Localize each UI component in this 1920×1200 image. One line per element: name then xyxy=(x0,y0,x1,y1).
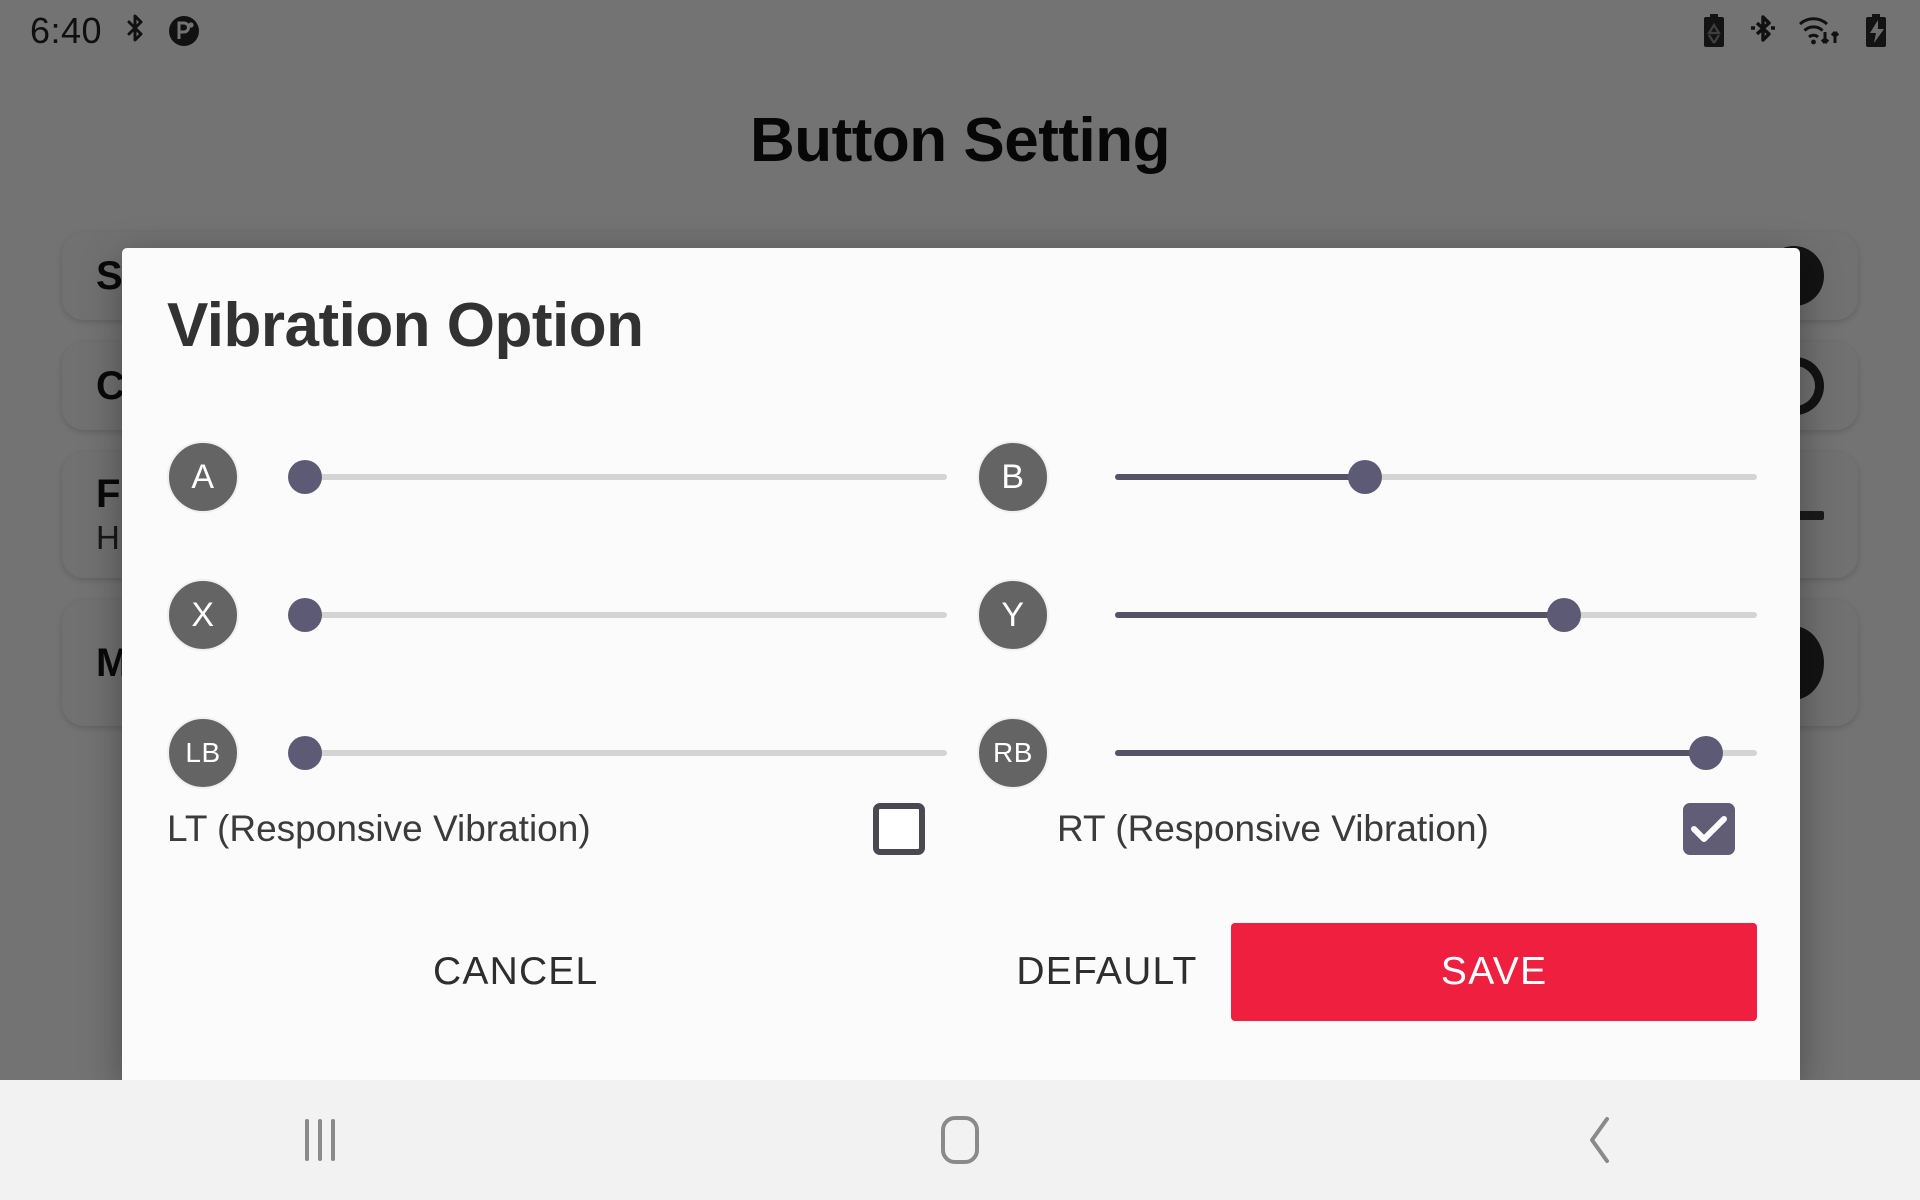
slider-rb[interactable] xyxy=(1115,723,1757,783)
slider-thumb[interactable] xyxy=(288,598,322,632)
slider-fill xyxy=(1115,750,1706,756)
responsive-vibration-row: LT (Responsive Vibration) RT (Responsive… xyxy=(167,803,1757,855)
dialog-title: Vibration Option xyxy=(167,290,644,361)
back-icon xyxy=(1585,1115,1615,1165)
screen: 6:40 xyxy=(0,0,1920,1200)
slider-row-rb: RB xyxy=(977,684,1757,822)
slider-row-lb: LB xyxy=(167,684,947,822)
navigation-bar xyxy=(0,1080,1920,1200)
rt-checkbox-label: RT (Responsive Vibration) xyxy=(1057,808,1489,850)
home-button[interactable] xyxy=(640,1080,1280,1200)
button-badge-lb: LB xyxy=(167,717,239,789)
slider-row-y: Y xyxy=(977,546,1757,684)
button-badge-x: X xyxy=(167,579,239,651)
recents-icon xyxy=(305,1119,335,1161)
slider-thumb[interactable] xyxy=(1547,598,1581,632)
slider-grid: A B X xyxy=(167,408,1757,822)
lt-checkbox-label: LT (Responsive Vibration) xyxy=(167,808,591,850)
slider-track xyxy=(305,750,947,756)
recents-button[interactable] xyxy=(0,1080,640,1200)
lt-checkbox[interactable] xyxy=(873,803,925,855)
button-badge-b: B xyxy=(977,441,1049,513)
slider-thumb[interactable] xyxy=(288,460,322,494)
slider-row-x: X xyxy=(167,546,947,684)
rt-checkbox[interactable] xyxy=(1683,803,1735,855)
slider-thumb[interactable] xyxy=(1348,460,1382,494)
slider-row-b: B xyxy=(977,408,1757,546)
slider-y[interactable] xyxy=(1115,585,1757,645)
slider-track xyxy=(305,612,947,618)
rt-checkbox-cell[interactable]: RT (Responsive Vibration) xyxy=(977,803,1757,855)
slider-thumb[interactable] xyxy=(1689,736,1723,770)
check-icon xyxy=(1691,815,1727,843)
button-badge-rb: RB xyxy=(977,717,1049,789)
slider-fill xyxy=(1115,612,1564,618)
slider-x[interactable] xyxy=(305,585,947,645)
slider-fill xyxy=(1115,474,1365,480)
slider-track xyxy=(305,474,947,480)
default-button[interactable]: DEFAULT xyxy=(982,928,1231,1016)
cancel-button[interactable]: CANCEL xyxy=(399,928,632,1016)
button-badge-a: A xyxy=(167,441,239,513)
dialog-action-row: CANCEL DEFAULT SAVE xyxy=(167,923,1757,1021)
slider-row-a: A xyxy=(167,408,947,546)
button-badge-y: Y xyxy=(977,579,1049,651)
slider-b[interactable] xyxy=(1115,447,1757,507)
save-button[interactable]: SAVE xyxy=(1231,923,1757,1021)
back-button[interactable] xyxy=(1280,1080,1920,1200)
slider-thumb[interactable] xyxy=(288,736,322,770)
home-icon xyxy=(941,1116,979,1164)
slider-a[interactable] xyxy=(305,447,947,507)
vibration-option-dialog: Vibration Option A B X xyxy=(122,248,1800,1080)
lt-checkbox-cell[interactable]: LT (Responsive Vibration) xyxy=(167,803,947,855)
slider-lb[interactable] xyxy=(305,723,947,783)
